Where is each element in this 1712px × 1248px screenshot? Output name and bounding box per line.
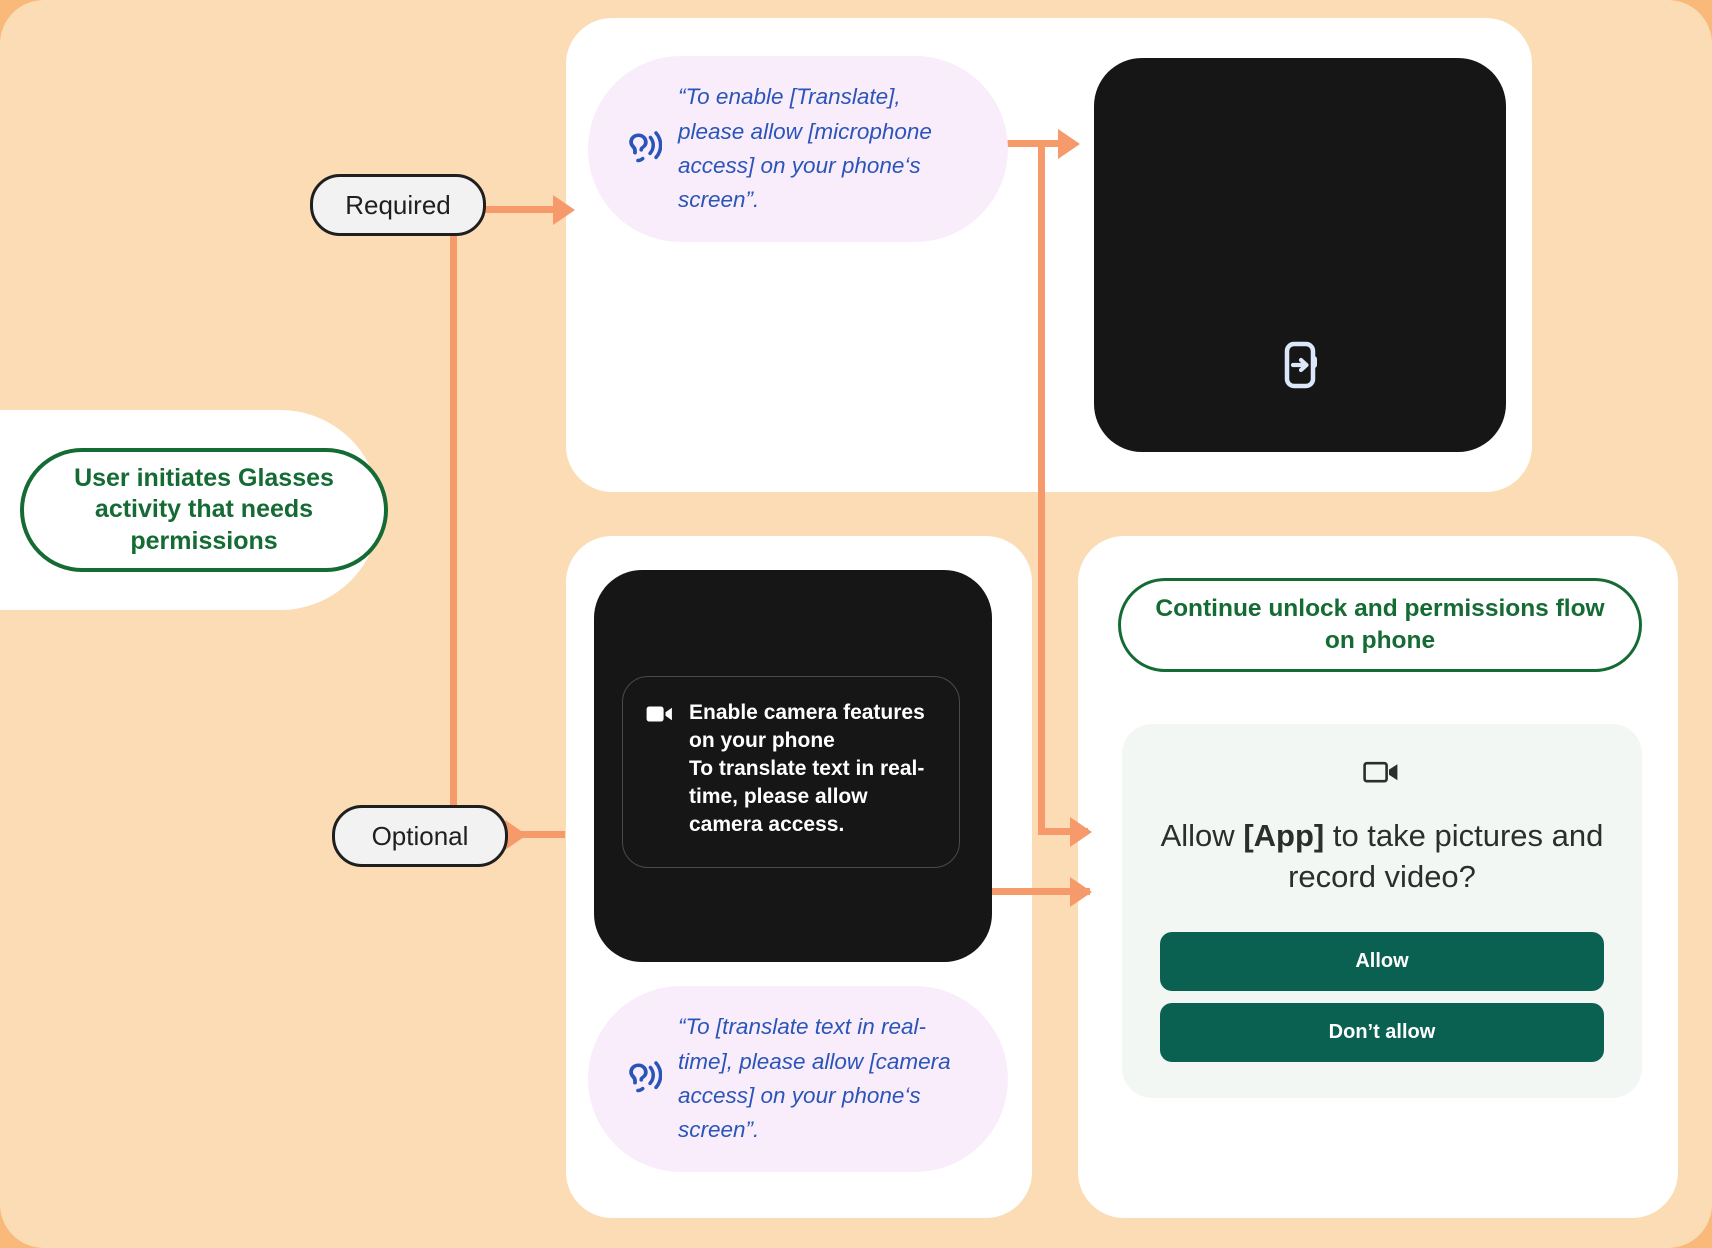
branch-tag-optional[interactable]: Optional [332,805,508,867]
connector-vertical-to-phone [1038,140,1045,835]
video-camera-icon [645,703,675,867]
required-bubble-text: “To enable [Translate], please allow [mi… [678,80,970,218]
phone-flow-header-label: Continue unlock and permissions flow on … [1121,593,1639,657]
branch-tag-required[interactable]: Required [310,174,486,236]
permission-question-prefix: Allow [1161,818,1244,853]
ear-hearing-icon [618,125,662,174]
arrowhead-required [553,195,575,225]
branch-tag-required-label: Required [345,190,451,221]
permission-question-app: [App] [1243,818,1324,853]
phone-unlock-icon [1278,341,1322,394]
arrowhead-top-glasses [1058,129,1080,159]
glasses-notification: Enable camera features on your phone To … [622,676,960,868]
permission-question-suffix: to take pictures and record video? [1288,818,1603,894]
branch-tag-optional-label: Optional [372,821,469,852]
arrowhead-optional [505,820,527,850]
android-permission-dialog: Allow [App] to take pictures and record … [1122,724,1642,1098]
arrowhead-phone-top [1070,817,1092,847]
required-speech-bubble: “To enable [Translate], please allow [mi… [588,56,1008,242]
glasses-camera-card: Enable camera features on your phone To … [594,570,992,962]
glasses-unlock-card [1094,58,1506,452]
allow-button-label: Allow [1355,950,1408,973]
start-node-label: User initiates Glasses activity that nee… [24,463,384,557]
diagram-canvas: User initiates Glasses activity that nee… [0,0,1712,1248]
phone-flow-header[interactable]: Continue unlock and permissions flow on … [1118,578,1642,672]
dont-allow-button-label: Don’t allow [1329,1021,1436,1044]
video-camera-icon [1363,758,1401,790]
start-node[interactable]: User initiates Glasses activity that nee… [20,448,388,572]
ear-hearing-icon [618,1055,662,1104]
allow-button[interactable]: Allow [1160,932,1604,991]
arrowhead-phone-bottom [1070,877,1092,907]
glasses-notification-body: To translate text in real-time, please a… [689,755,939,839]
connector-trunk-vertical [450,210,457,838]
permission-question: Allow [App] to take pictures and record … [1160,816,1604,898]
optional-speech-bubble: “To [translate text in real-time], pleas… [588,986,1008,1172]
dont-allow-button[interactable]: Don’t allow [1160,1003,1604,1062]
glasses-notification-text: Enable camera features on your phone To … [689,699,939,867]
optional-bubble-text: “To [translate text in real-time], pleas… [678,1010,970,1148]
glasses-notification-title: Enable camera features on your phone [689,699,939,755]
